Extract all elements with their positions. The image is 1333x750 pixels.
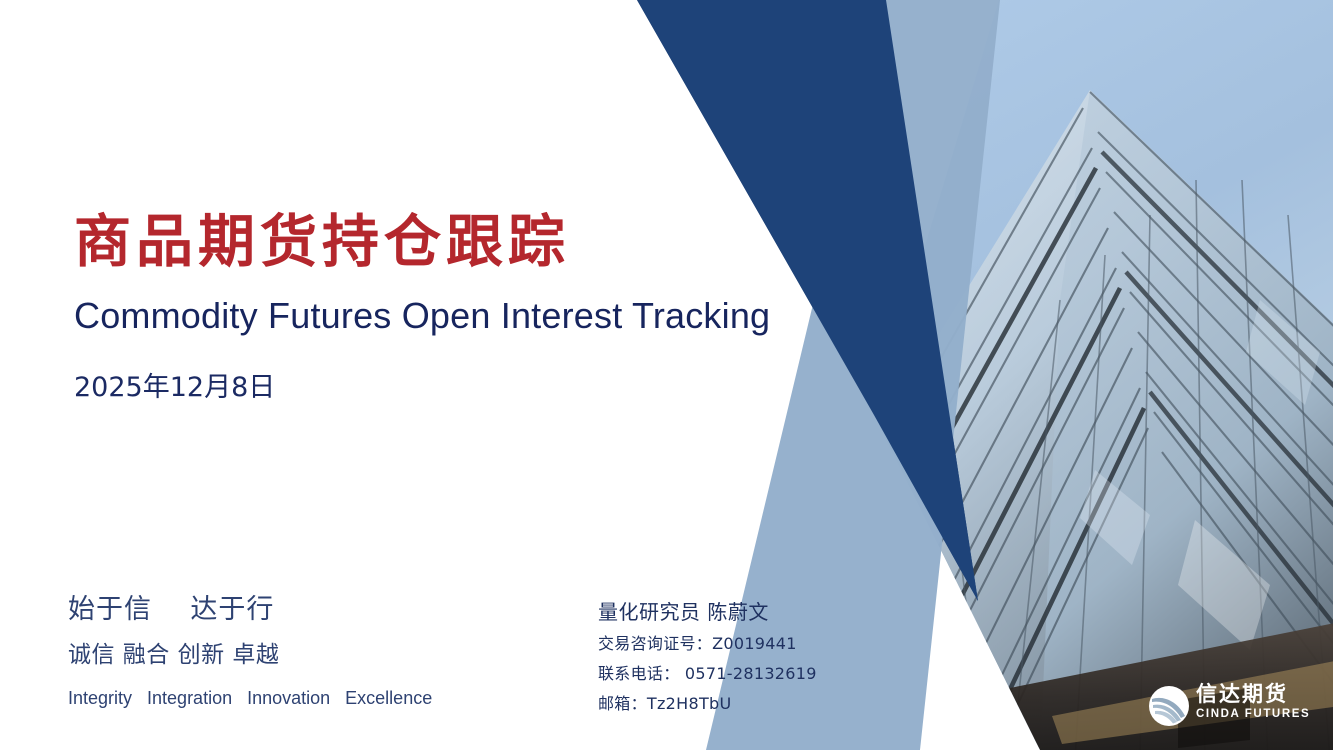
slogan-primary-cn: 始于信 达于行 bbox=[68, 596, 538, 623]
trading-license-number: 交易咨询证号：Z0019441 bbox=[598, 636, 928, 652]
cinda-swoosh-icon bbox=[1148, 685, 1190, 727]
presentation-title-slide: 商品期货持仓跟踪 Commodity Futures Open Interest… bbox=[0, 0, 1333, 750]
page-title-cn: 商品期货持仓跟踪 bbox=[74, 210, 864, 275]
researcher-name: 量化研究员 陈蔚文 bbox=[598, 602, 928, 622]
page-title-en: Commodity Futures Open Interest Tracking bbox=[74, 294, 864, 337]
company-logo: 信达期货 CINDA FUTURES bbox=[1148, 683, 1324, 729]
slogan-values-en: Integrity Integration Innovation Excelle… bbox=[68, 689, 538, 707]
slogan-values-cn: 诚信 融合 创新 卓越 bbox=[68, 644, 538, 667]
logo-wordmark: 信达期货 CINDA FUTURES bbox=[1196, 683, 1326, 720]
company-slogan-block: 始于信 达于行 诚信 融合 创新 卓越 Integrity Integratio… bbox=[68, 596, 538, 707]
contact-email: 邮箱：Tz2H8TbU bbox=[598, 696, 928, 712]
researcher-contact-block: 量化研究员 陈蔚文 交易咨询证号：Z0019441 联系电话： 0571-281… bbox=[598, 602, 928, 712]
contact-phone: 联系电话： 0571-28132619 bbox=[598, 666, 928, 682]
title-block: 商品期货持仓跟踪 Commodity Futures Open Interest… bbox=[74, 210, 864, 404]
logo-name-en: CINDA FUTURES bbox=[1196, 708, 1326, 720]
report-date: 2025年12月8日 bbox=[74, 365, 864, 404]
logo-name-cn: 信达期货 bbox=[1196, 683, 1326, 705]
